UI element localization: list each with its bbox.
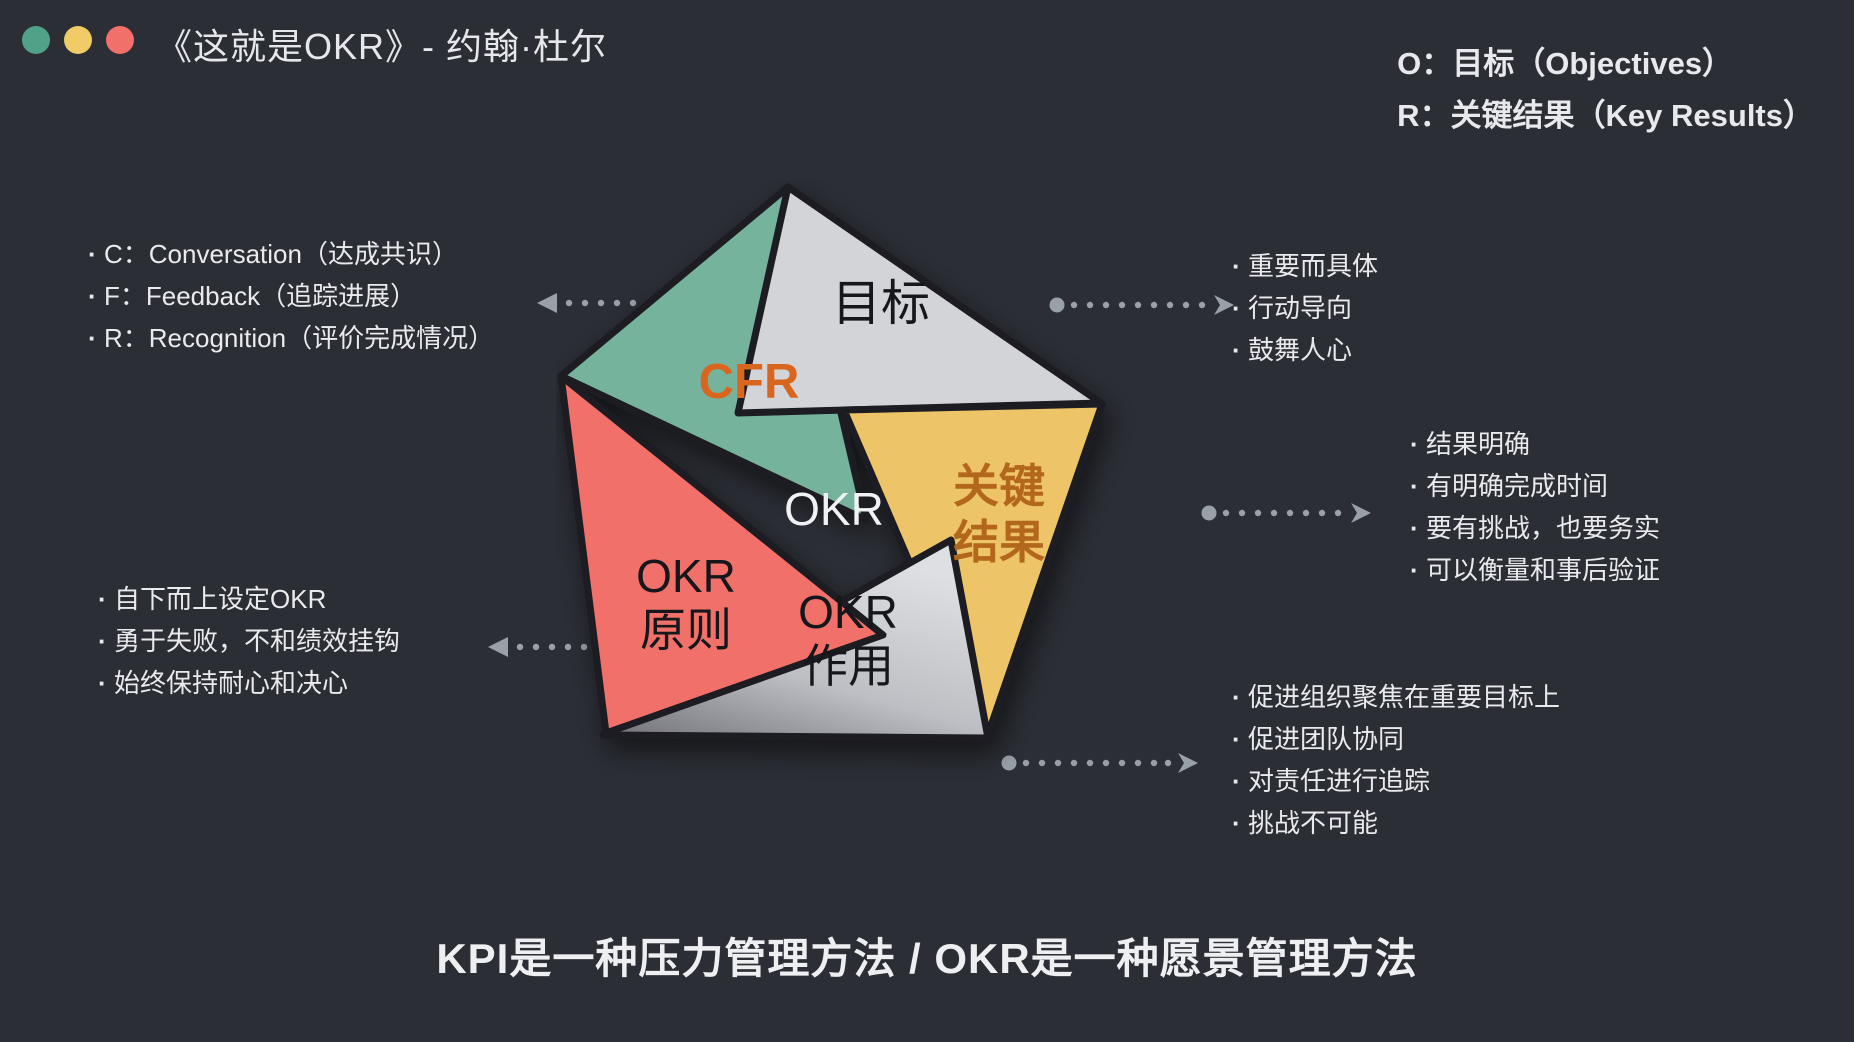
bullet-item: 可以衡量和事后验证 <box>1410 549 1660 591</box>
bullet-item: R：Recognition（评价完成情况） <box>88 317 494 359</box>
footer-caption: KPI是一种压力管理方法 / OKR是一种愿景管理方法 <box>0 925 1854 986</box>
window-dot-green[interactable] <box>22 26 50 54</box>
bullet-list-cfr: C：Conversation（达成共识） F：Feedback（追踪进展） R：… <box>88 233 494 359</box>
bullet-item: C：Conversation（达成共识） <box>88 233 494 275</box>
connector-arrow-right-key-results <box>1200 500 1375 526</box>
bullet-item: 勇于失败，不和绩效挂钩 <box>98 620 400 662</box>
diagram-center-label: OKR <box>784 483 884 535</box>
segment-label-cfr: CFR <box>699 355 800 409</box>
bullet-list-key-results: 结果明确 有明确完成时间 要有挑战，也要务实 可以衡量和事后验证 <box>1410 423 1660 591</box>
bullet-item: 行动导向 <box>1232 287 1378 329</box>
bullet-item: F：Feedback（追踪进展） <box>88 275 494 317</box>
segment-label-okr-usage-line2: 作用 <box>802 640 894 692</box>
bullet-item: 有明确完成时间 <box>1410 465 1660 507</box>
bullet-list-okr-usage: 促进组织聚焦在重要目标上 促进团队协同 对责任进行追踪 挑战不可能 <box>1232 676 1560 844</box>
okr-legend: O：目标（Objectives） R：关键结果（Key Results） <box>1397 38 1814 142</box>
bullet-item: 鼓舞人心 <box>1232 329 1378 371</box>
bullet-item: 始终保持耐心和决心 <box>98 662 400 704</box>
bullet-item: 自下而上设定OKR <box>98 578 400 620</box>
window-controls <box>22 26 134 54</box>
bullet-item: 促进组织聚焦在重要目标上 <box>1232 676 1560 718</box>
bullet-item: 促进团队协同 <box>1232 718 1560 760</box>
segment-label-key-results-line2: 结果 <box>953 516 1045 568</box>
segment-label-key-results-line1: 关键 <box>953 460 1045 512</box>
bullet-list-okr-rules: 自下而上设定OKR 勇于失败，不和绩效挂钩 始终保持耐心和决心 <box>98 578 400 704</box>
segment-label-okr-rules-line1: OKR <box>636 550 736 602</box>
segment-label-objectives: 目标 <box>832 277 930 331</box>
window-dot-yellow[interactable] <box>64 26 92 54</box>
window-dot-red[interactable] <box>106 26 134 54</box>
segment-label-okr-usage-line1: OKR <box>798 586 898 638</box>
bullet-item: 要有挑战，也要务实 <box>1410 507 1660 549</box>
legend-line-objectives: O：目标（Objectives） <box>1397 38 1814 90</box>
okr-pinwheel-diagram: 目标 CFR 关键 结果 OKR 原则 OKR 作用 OKR <box>556 180 1216 840</box>
bullet-item: 挑战不可能 <box>1232 802 1560 844</box>
bullet-item: 对责任进行追踪 <box>1232 760 1560 802</box>
bullet-item: 结果明确 <box>1410 423 1660 465</box>
legend-line-key-results: R：关键结果（Key Results） <box>1397 90 1814 142</box>
bullet-item: 重要而具体 <box>1232 245 1378 287</box>
segment-label-okr-rules-line2: 原则 <box>640 604 732 656</box>
bullet-list-objectives: 重要而具体 行动导向 鼓舞人心 <box>1232 245 1378 371</box>
page-title: 《这就是OKR》- 约翰·杜尔 <box>156 18 607 70</box>
